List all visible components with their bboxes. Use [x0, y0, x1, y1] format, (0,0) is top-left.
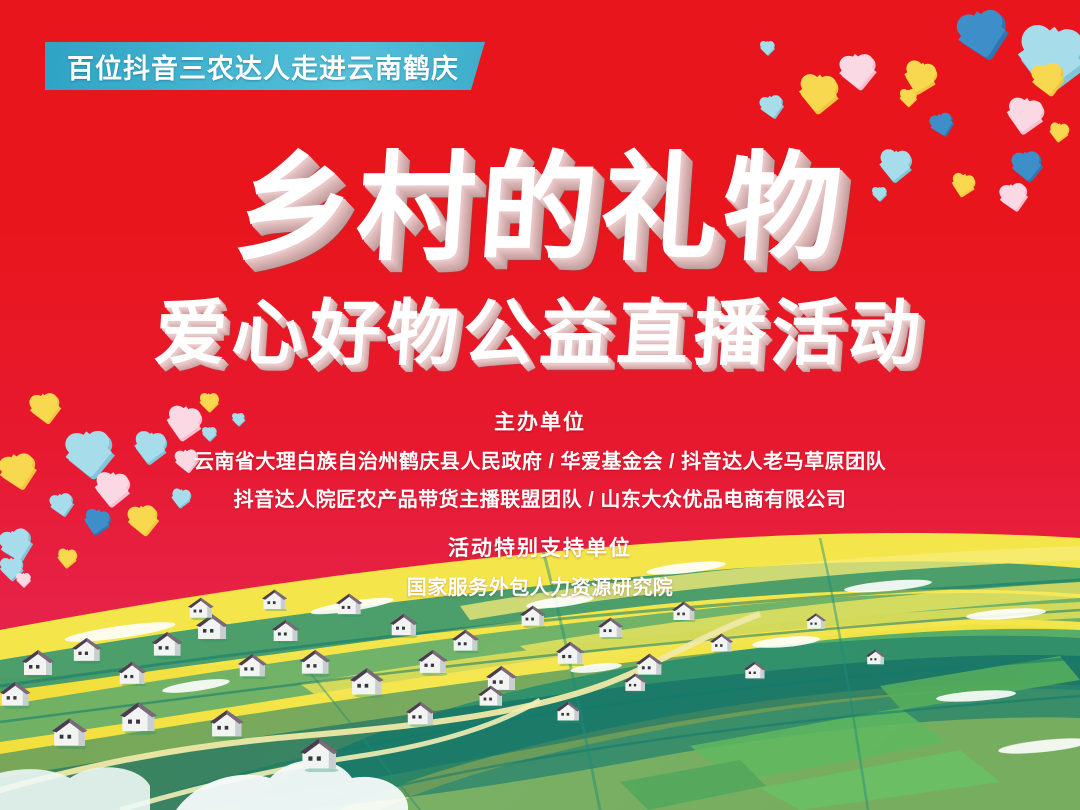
heart-icon — [1005, 93, 1044, 132]
house-svg — [118, 660, 148, 686]
headline-container: 乡村的礼物 — [0, 150, 1080, 268]
house-svg — [744, 660, 767, 680]
house-icon — [210, 708, 246, 740]
heart-icon — [1049, 121, 1069, 141]
house-icon — [744, 660, 767, 680]
credits-spacer — [0, 512, 1080, 532]
house-svg — [866, 648, 886, 666]
house-svg — [406, 700, 437, 727]
house-svg — [418, 648, 449, 676]
house-icon — [118, 660, 148, 686]
house-icon — [418, 648, 449, 676]
credits-block: 主办单位 云南省大理白族自治州鹤庆县人民政府 / 华爱基金会 / 抖音达人老马草… — [0, 406, 1080, 600]
house-icon — [0, 680, 32, 709]
house-icon — [22, 648, 56, 678]
heart-icon — [954, 4, 1009, 59]
house-icon — [152, 630, 184, 659]
house-svg — [238, 652, 269, 679]
house-icon — [866, 648, 886, 666]
house-svg — [556, 640, 586, 666]
house-svg — [452, 628, 481, 653]
house-icon — [806, 612, 827, 631]
heart-shape — [838, 50, 875, 87]
house-svg — [300, 648, 332, 677]
heart-shape — [1030, 60, 1064, 94]
house-icon — [72, 636, 103, 664]
house-icon — [238, 652, 269, 679]
heart-icon — [928, 110, 955, 137]
heart-shape — [954, 4, 1009, 59]
house-icon — [120, 700, 159, 735]
house-icon — [672, 600, 697, 622]
house-icon — [556, 700, 582, 723]
event-banner: 百位抖音三农达人走进云南鹤庆 — [45, 42, 485, 90]
house-svg — [272, 618, 301, 644]
page-subtitle: 爱心好物公益直播活动 — [152, 298, 927, 370]
house-icon — [300, 648, 332, 677]
house-svg — [300, 736, 341, 772]
subheadline-container: 爱心好物公益直播活动 — [0, 298, 1080, 370]
heart-icon — [758, 92, 783, 117]
house-svg — [598, 616, 625, 639]
house-icon — [556, 640, 586, 666]
page-title: 乡村的礼物 — [231, 150, 849, 268]
heart-icon — [902, 57, 938, 93]
support-line: 国家服务外包人力资源研究院 — [0, 571, 1080, 600]
heart-icon — [798, 70, 838, 110]
heart-icon — [838, 50, 875, 87]
house-svg — [624, 672, 648, 693]
house-svg — [350, 666, 386, 698]
house-icon — [710, 632, 734, 654]
house-icon — [406, 700, 437, 727]
house-svg — [210, 708, 246, 740]
house-svg — [806, 612, 827, 631]
house-icon — [300, 736, 341, 772]
house-svg — [0, 680, 32, 709]
house-svg — [556, 700, 582, 723]
organizer-line: 云南省大理白族自治州鹤庆县人民政府 / 华爱基金会 / 抖音达人老马草原团队 — [0, 445, 1080, 474]
house-svg — [672, 600, 697, 622]
house-icon — [390, 612, 419, 638]
organizer-label: 主办单位 — [0, 406, 1080, 436]
house-icon — [478, 684, 505, 708]
event-banner-label: 百位抖音三农达人走进云南鹤庆 — [67, 47, 459, 86]
house-svg — [22, 648, 56, 678]
house-svg — [478, 684, 505, 708]
house-svg — [72, 636, 103, 664]
house-svg — [152, 630, 184, 659]
heart-shape — [760, 40, 774, 54]
organizer-line: 抖音达人院匠农产品带货主播联盟团队 / 山东大众优品电商有限公司 — [0, 483, 1080, 512]
house-icon — [452, 628, 481, 653]
house-icon — [52, 716, 89, 749]
heart-shape — [798, 70, 838, 110]
heart-icon — [760, 40, 774, 54]
heart-icon — [1030, 60, 1064, 94]
house-icon — [272, 618, 301, 644]
heart-shape — [1005, 93, 1044, 132]
heart-shape — [1049, 121, 1069, 141]
house-icon — [598, 616, 625, 639]
support-label: 活动特别支持单位 — [0, 532, 1080, 562]
poster-root: 百位抖音三农达人走进云南鹤庆 乡村的礼物 爱心好物公益直播活动 主办单位 云南省… — [0, 0, 1080, 810]
house-svg — [520, 604, 547, 628]
house-icon — [520, 604, 547, 628]
house-svg — [120, 700, 159, 735]
house-svg — [52, 716, 89, 749]
house-svg — [710, 632, 734, 654]
house-icon — [624, 672, 648, 693]
house-icon — [350, 666, 386, 698]
house-svg — [390, 612, 419, 638]
heart-shape — [758, 92, 783, 117]
